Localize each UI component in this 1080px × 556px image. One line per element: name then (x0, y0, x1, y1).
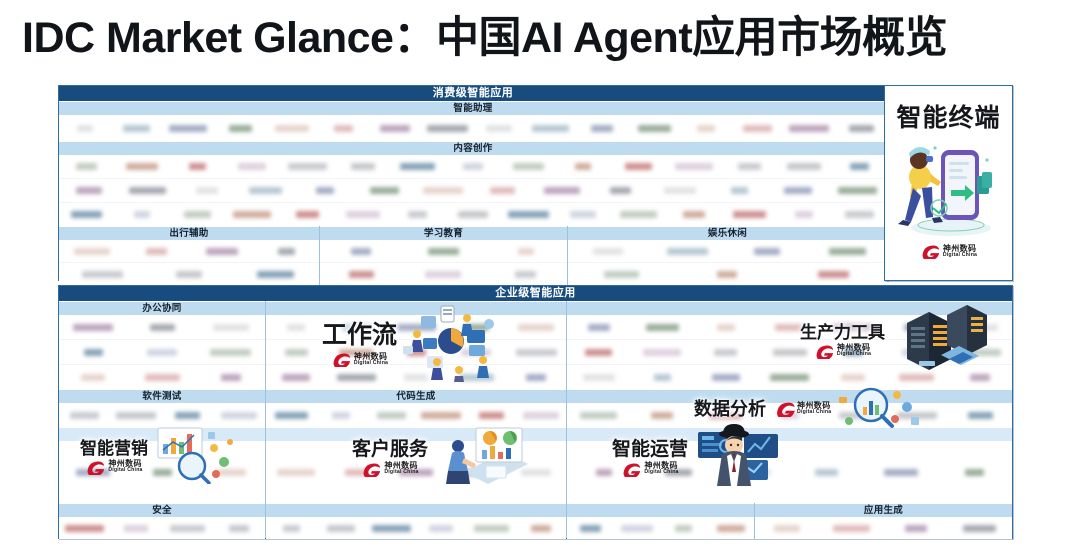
vendor-logo (710, 179, 769, 202)
logo-row (568, 240, 887, 262)
vendor-logo (266, 365, 326, 389)
vendor-logo (236, 179, 295, 202)
vendor-logo (628, 115, 680, 141)
vendor-logo (390, 203, 445, 226)
magnifier-data-illustration (837, 385, 923, 431)
consumer-band-travel: 出行辅助 (59, 226, 319, 240)
vendor-logo (59, 179, 118, 202)
vendor-logo (225, 203, 280, 226)
vendor-logo (828, 179, 887, 202)
vendor-logo (755, 517, 819, 539)
consumer-band-education: 学习教育 (320, 226, 567, 240)
vendor-logo (567, 517, 614, 539)
feature-workflow[interactable]: 工作流 神州数码 Digital China (318, 300, 553, 382)
vendor-logo (485, 263, 567, 285)
logo-row (59, 339, 265, 364)
logo-row (59, 115, 887, 141)
vendor-logo (318, 115, 370, 141)
consumer-band-entertainment: 娱乐休闲 (568, 226, 887, 240)
server-rack-illustration (889, 303, 993, 373)
enterprise-band-security-2 (266, 503, 566, 517)
vendor-logo (666, 155, 721, 178)
feature-smart-operations-title: 智能运营 (612, 434, 688, 461)
digital-china-logo: 神州数码 Digital China (920, 244, 977, 259)
vendor-logo (577, 115, 629, 141)
vendor-logo (162, 517, 214, 539)
vendor-logo (648, 240, 728, 262)
logo-row (266, 517, 566, 539)
vendor-logo (445, 203, 500, 226)
vendor-logo (611, 155, 666, 178)
digital-china-mark-icon (814, 344, 834, 359)
brand-name-en: Digital China (837, 352, 871, 357)
vendor-logo (214, 115, 266, 141)
vendor-logo (728, 240, 808, 262)
brand-name-en: Digital China (797, 410, 831, 415)
vendor-logo (266, 517, 316, 539)
smart-terminal-illustration (889, 130, 1009, 242)
enterprise-band-security: 安全 (59, 503, 265, 517)
digital-china-mark-icon (331, 352, 351, 367)
feature-smart-marketing-title: 智能营销 (80, 434, 148, 459)
feature-workflow-title: 工作流 (322, 315, 397, 351)
vendor-logo (501, 155, 556, 178)
consumer-band-content-creation: 内容创作 (59, 141, 887, 155)
vendor-logo (631, 315, 695, 339)
vendor-logo (614, 517, 661, 539)
brand-name-en: Digital China (644, 470, 678, 475)
vendor-logo (445, 155, 500, 178)
vendor-logo (320, 263, 402, 285)
vendor-logo (59, 315, 128, 339)
consumer-col-education: 学习教育 (319, 226, 567, 286)
vendor-logo (807, 240, 887, 262)
enterprise-band-software-test: 软件测试 (59, 389, 265, 403)
vendor-logo (631, 365, 695, 389)
vendor-logo (525, 115, 577, 141)
vendor-logo (280, 203, 335, 226)
vendor-logo (169, 203, 224, 226)
vendor-logo (567, 315, 631, 339)
vendor-logo (316, 517, 366, 539)
vendor-logo (366, 517, 416, 539)
vendor-logo (473, 115, 525, 141)
brand-name-en: Digital China (354, 361, 388, 366)
logo-row (59, 178, 887, 202)
vendor-logo (784, 115, 836, 141)
feature-customer-service-text: 客户服务 神州数码 Digital China (352, 434, 428, 477)
feature-data-analysis-title: 数据分析 (694, 395, 766, 421)
vendor-logo (694, 315, 758, 339)
feature-productivity-tools-title: 生产力工具 (800, 318, 885, 343)
vendor-logo (114, 203, 169, 226)
vendor-logo (694, 340, 758, 364)
consumer-section: 消费级智能应用 智能助理 内容创作 出行辅助 学习教育 娱乐休闲 (58, 85, 888, 281)
vendor-logo (556, 203, 611, 226)
logo-row (320, 240, 567, 262)
vendor-logo (196, 340, 265, 364)
vendor-logo (473, 179, 532, 202)
vendor-logo (864, 441, 938, 503)
digital-china-mark-icon (920, 244, 940, 259)
smart-terminal-title: 智能终端 (896, 98, 1000, 134)
logo-row (59, 364, 265, 389)
digital-china-logo: 神州数码 Digital China (814, 344, 871, 359)
vendor-logo (59, 203, 114, 226)
vendor-logo (781, 263, 887, 285)
vendor-logo (196, 365, 265, 389)
vendor-logo (556, 155, 611, 178)
vendor-logo (189, 240, 254, 262)
vendor-logo (832, 155, 887, 178)
logo-row (59, 517, 265, 539)
digital-china-logo: 神州数码 Digital China (85, 460, 142, 475)
vendor-logo (296, 179, 355, 202)
logo-row (320, 262, 567, 285)
vendor-logo (335, 203, 390, 226)
vendor-logo (59, 115, 111, 141)
vendor-logo (146, 263, 233, 285)
vendor-logo (721, 155, 776, 178)
digital-china-logo: 神州数码 Digital China (621, 462, 678, 477)
vendor-logo (466, 517, 516, 539)
vendor-logo (59, 263, 146, 285)
digital-china-logo: 神州数码 Digital China (331, 352, 388, 367)
vendor-logo (568, 240, 648, 262)
operations-illustration (690, 424, 786, 486)
vendor-logo (128, 365, 197, 389)
vendor-logo (568, 263, 674, 285)
vendor-logo (777, 155, 832, 178)
vendor-logo (721, 203, 776, 226)
vendor-logo (59, 365, 128, 389)
vendor-logo (124, 240, 189, 262)
vendor-logo (111, 115, 163, 141)
vendor-logo (266, 115, 318, 141)
feature-productivity-tools[interactable]: 生产力工具 神州数码 Digital China (800, 303, 1015, 373)
vendor-logo (732, 115, 784, 141)
vendor-logo (59, 517, 111, 539)
vendor-logo (832, 203, 887, 226)
vendor-logo (111, 517, 163, 539)
feature-customer-service-title: 客户服务 (352, 434, 428, 461)
vendor-logo (280, 155, 335, 178)
vendor-logo (769, 179, 828, 202)
vendor-logo (402, 263, 484, 285)
vendor-logo (128, 340, 197, 364)
vendor-logo (114, 155, 169, 178)
consumer-col-travel: 出行辅助 (59, 226, 319, 286)
feature-productivity-tools-text: 生产力工具 神州数码 Digital China (800, 318, 885, 359)
vendor-logo (128, 315, 197, 339)
vendor-logo (225, 155, 280, 178)
enterprise-band-office: 办公协同 (59, 301, 265, 315)
page-title: IDC Market Glance：中国AI Agent应用市场概览 (22, 10, 1062, 66)
vendor-logo (938, 441, 1012, 503)
vendor-logo (59, 240, 124, 262)
vendor-logo (320, 240, 402, 262)
vendor-logo (118, 179, 177, 202)
vendor-logo (416, 517, 466, 539)
feature-smart-marketing-text: 智能营销 神州数码 Digital China (80, 434, 148, 475)
vendor-logo (59, 340, 128, 364)
brand-name-en: Digital China (108, 468, 142, 473)
vendor-logo (266, 340, 326, 364)
vendor-logo (390, 155, 445, 178)
workflow-illustration (397, 300, 505, 382)
enterprise-banner: 企业级智能应用 (59, 286, 1012, 301)
logo-row (567, 517, 754, 539)
vendor-logo (661, 517, 708, 539)
vendor-logo (567, 365, 631, 389)
vendor-logo (631, 340, 695, 364)
vendor-logo (501, 203, 556, 226)
vendor-logo (196, 315, 265, 339)
vendor-logo (516, 517, 566, 539)
logo-row (59, 315, 265, 339)
vendor-logo (884, 517, 948, 539)
vendor-logo (680, 115, 732, 141)
vendor-logo (835, 115, 887, 141)
vendor-logo (59, 155, 114, 178)
brand-name-en: Digital China (943, 253, 977, 258)
vendor-logo (355, 179, 414, 202)
logo-row (59, 262, 319, 285)
vendor-logo (611, 203, 666, 226)
consumer-col-entertainment: 娱乐休闲 (567, 226, 887, 286)
vendor-logo (707, 517, 754, 539)
enterprise-band-app-gen: 应用生成 (755, 503, 1012, 517)
vendor-logo (777, 203, 832, 226)
logo-row (59, 155, 887, 178)
vendor-logo (163, 115, 215, 141)
feature-smart-operations-text: 智能运营 神州数码 Digital China (612, 434, 688, 477)
enterprise-band-security-3 (567, 503, 754, 517)
digital-china-mark-icon (621, 462, 641, 477)
feature-workflow-text: 工作流 神州数码 Digital China (322, 315, 397, 367)
digital-china-logo: 神州数码 Digital China (774, 401, 831, 416)
vendor-logo (421, 115, 473, 141)
vendor-logo (674, 263, 780, 285)
marketing-chart-illustration (148, 424, 240, 484)
logo-row (59, 202, 887, 226)
feature-smart-operations[interactable]: 智能运营 神州数码 Digital China (612, 424, 802, 486)
vendor-logo (948, 517, 1012, 539)
vendor-logo (177, 179, 236, 202)
brand-name-en: Digital China (384, 470, 418, 475)
vendor-logo (819, 517, 883, 539)
vendor-logo (591, 179, 650, 202)
vendor-logo (169, 155, 224, 178)
vendor-logo (266, 315, 326, 339)
consumer-band-smart-assistant: 智能助理 (59, 101, 887, 115)
vendor-logo (254, 240, 319, 262)
digital-china-logo: 神州数码 Digital China (361, 462, 418, 477)
vendor-logo (232, 263, 319, 285)
vendor-logo (335, 155, 390, 178)
vendor-logo (650, 179, 709, 202)
digital-china-mark-icon (85, 460, 105, 475)
digital-china-mark-icon (361, 462, 381, 477)
logo-row (568, 262, 887, 285)
vendor-logo (414, 179, 473, 202)
smart-terminal-panel[interactable]: 智能终端 神州数码 D (884, 85, 1013, 281)
logo-row (755, 517, 1012, 539)
vendor-logo (214, 517, 266, 539)
vendor-logo (370, 115, 422, 141)
feature-customer-service[interactable]: 客户服务 神州数码 Digital China (352, 424, 562, 486)
enterprise-band-code-gen: 代码生成 (266, 389, 566, 403)
vendor-logo (532, 179, 591, 202)
vendor-logo (567, 340, 631, 364)
consumer-banner: 消费级智能应用 (59, 86, 887, 101)
enterprise-col-1: 办公协同 软件测试 安全 (59, 301, 265, 538)
digital-china-mark-icon (774, 401, 794, 416)
feature-smart-marketing[interactable]: 智能营销 神州数码 Digital China (80, 424, 280, 484)
vendor-logo (485, 240, 567, 262)
logo-row (59, 240, 319, 262)
vendor-logo (666, 203, 721, 226)
vendor-logo (402, 240, 484, 262)
customer-service-illustration (430, 424, 530, 486)
